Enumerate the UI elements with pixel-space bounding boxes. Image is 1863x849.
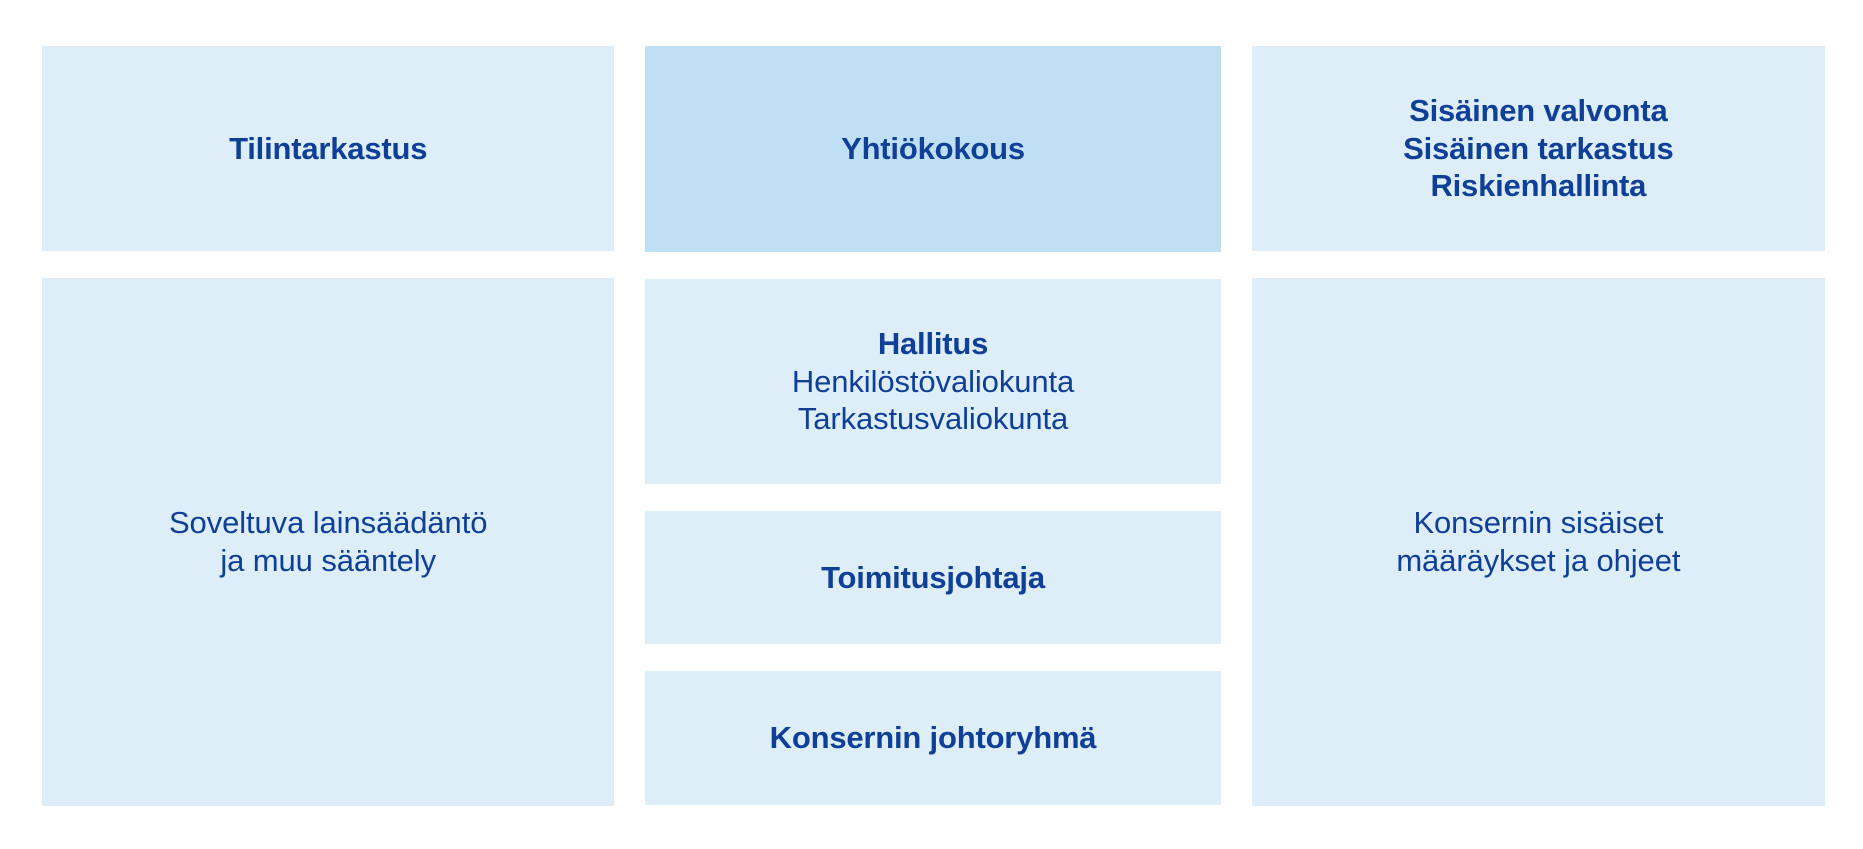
card-executive-team-label: Konsernin johtoryhmä bbox=[661, 719, 1204, 757]
card-general-meeting[interactable]: Yhtiökokous bbox=[645, 46, 1220, 252]
card-audit-label: Tilintarkastus bbox=[58, 130, 598, 168]
card-internal-controls[interactable]: Sisäinen valvonta Sisäinen tarkastus Ris… bbox=[1252, 46, 1825, 251]
card-executive-team[interactable]: Konsernin johtoryhmä bbox=[645, 671, 1220, 805]
card-board[interactable]: Hallitus Henkilöstövaliokunta Tarkastusv… bbox=[645, 279, 1220, 484]
center-column: Yhtiökokous Hallitus Henkilöstövaliokunt… bbox=[645, 46, 1220, 806]
card-board-title: Hallitus bbox=[661, 325, 1204, 363]
card-internal-controls-line-3: Riskienhallinta bbox=[1268, 167, 1809, 205]
card-internal-controls-line-1: Sisäinen valvonta bbox=[1268, 92, 1809, 130]
card-ceo[interactable]: Toimitusjohtaja bbox=[645, 511, 1220, 644]
card-internal-rules[interactable]: Konsernin sisäiset määräykset ja ohjeet bbox=[1252, 278, 1825, 806]
card-ceo-label: Toimitusjohtaja bbox=[661, 559, 1204, 597]
card-general-meeting-label: Yhtiökokous bbox=[661, 130, 1204, 168]
card-legislation-line-2: ja muu sääntely bbox=[58, 542, 598, 580]
right-column: Sisäinen valvonta Sisäinen tarkastus Ris… bbox=[1252, 46, 1825, 806]
left-column: Tilintarkastus Soveltuva lainsäädäntö ja… bbox=[42, 46, 614, 806]
card-board-committee-personnel: Henkilöstövaliokunta bbox=[661, 363, 1204, 401]
card-audit[interactable]: Tilintarkastus bbox=[42, 46, 614, 251]
card-internal-rules-line-2: määräykset ja ohjeet bbox=[1268, 542, 1809, 580]
card-legislation[interactable]: Soveltuva lainsäädäntö ja muu sääntely bbox=[42, 278, 614, 806]
card-internal-rules-line-1: Konsernin sisäiset bbox=[1268, 504, 1809, 542]
card-board-committee-audit: Tarkastusvaliokunta bbox=[661, 400, 1204, 438]
card-internal-controls-line-2: Sisäinen tarkastus bbox=[1268, 130, 1809, 168]
governance-structure-diagram: Tilintarkastus Soveltuva lainsäädäntö ja… bbox=[0, 0, 1863, 849]
card-legislation-line-1: Soveltuva lainsäädäntö bbox=[58, 504, 598, 542]
